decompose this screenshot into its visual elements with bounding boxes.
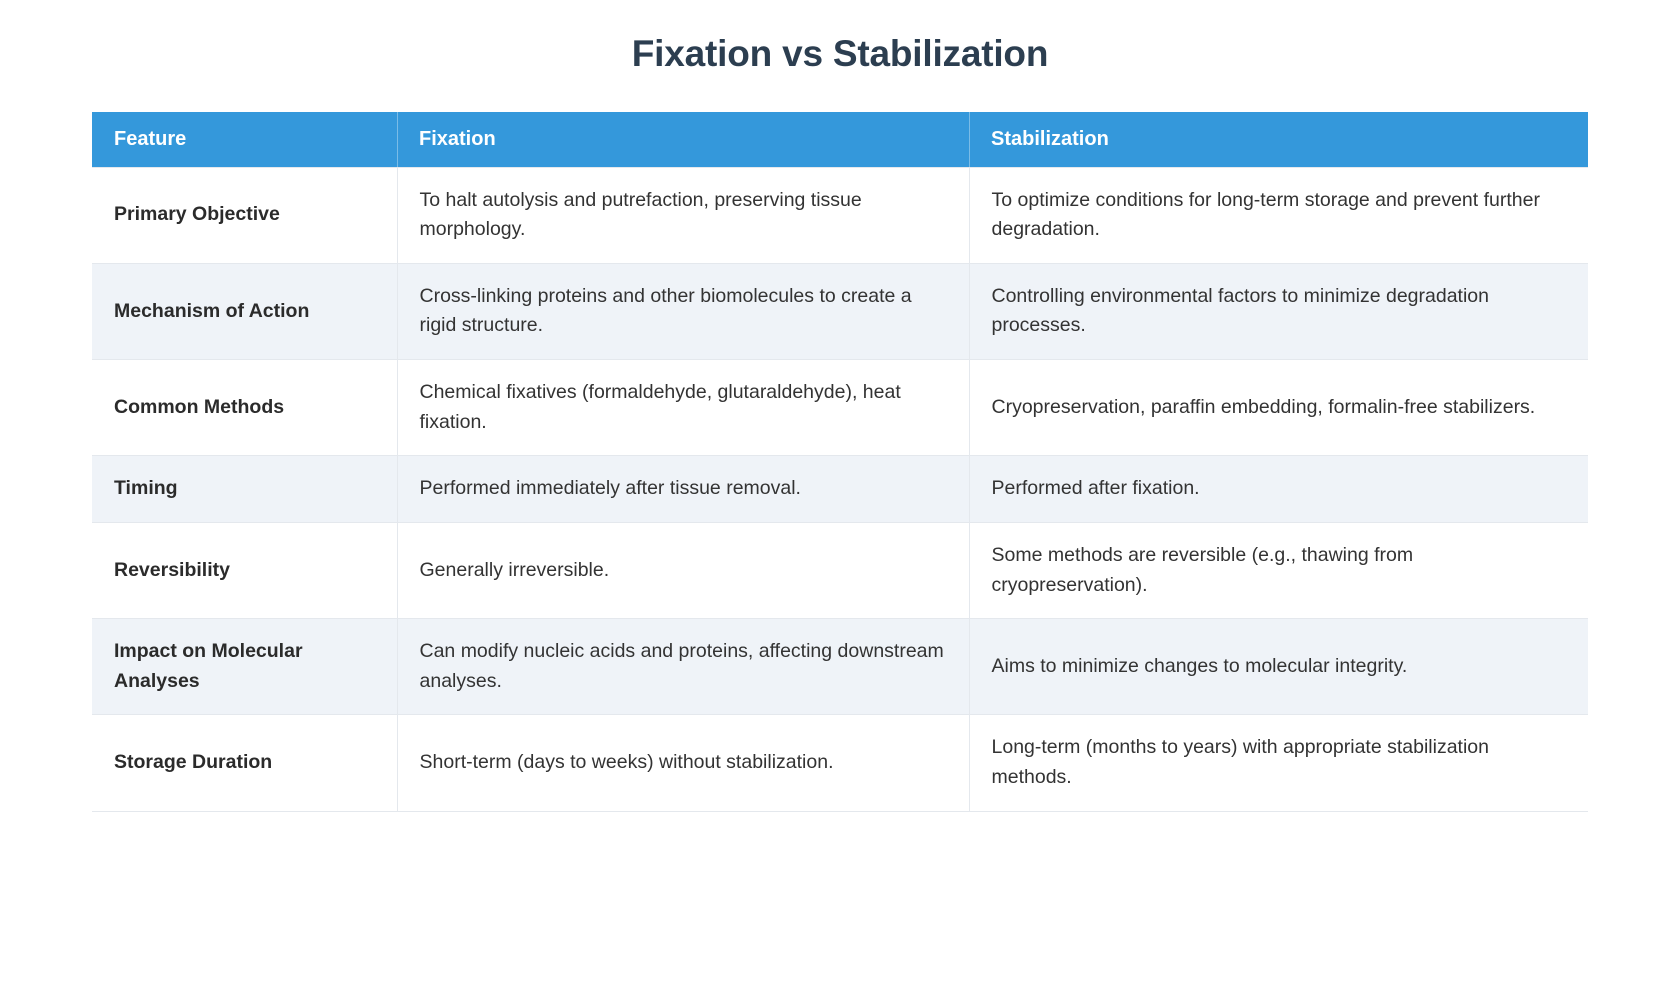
cell-fixation: Short-term (days to weeks) without stabi… — [397, 715, 969, 811]
cell-feature: Timing — [92, 456, 397, 523]
cell-stabilization: Controlling environmental factors to min… — [969, 263, 1588, 359]
table-header: Feature Fixation Stabilization — [92, 112, 1588, 168]
cell-fixation: To halt autolysis and putrefaction, pres… — [397, 167, 969, 263]
table-row: Reversibility Generally irreversible. So… — [92, 522, 1588, 618]
table-row: Impact on Molecular Analyses Can modify … — [92, 619, 1588, 715]
cell-fixation: Performed immediately after tissue remov… — [397, 456, 969, 523]
cell-fixation: Can modify nucleic acids and proteins, a… — [397, 619, 969, 715]
cell-fixation: Cross-linking proteins and other biomole… — [397, 263, 969, 359]
table-row: Storage Duration Short-term (days to wee… — [92, 715, 1588, 811]
cell-feature: Storage Duration — [92, 715, 397, 811]
cell-stabilization: Some methods are reversible (e.g., thawi… — [969, 522, 1588, 618]
cell-feature: Reversibility — [92, 522, 397, 618]
cell-feature: Primary Objective — [92, 167, 397, 263]
cell-stabilization: Aims to minimize changes to molecular in… — [969, 619, 1588, 715]
page-title: Fixation vs Stabilization — [0, 0, 1680, 76]
cell-feature: Common Methods — [92, 360, 397, 456]
page-root: Fixation vs Stabilization Feature Fixati… — [0, 0, 1680, 1002]
cell-stabilization: Performed after fixation. — [969, 456, 1588, 523]
column-header-stabilization[interactable]: Stabilization — [969, 112, 1588, 168]
table-header-row: Feature Fixation Stabilization — [92, 112, 1588, 168]
comparison-table: Feature Fixation Stabilization Primary O… — [92, 112, 1588, 812]
table-body: Primary Objective To halt autolysis and … — [92, 167, 1588, 811]
cell-stabilization: Long-term (months to years) with appropr… — [969, 715, 1588, 811]
table-row: Common Methods Chemical fixatives (forma… — [92, 360, 1588, 456]
cell-fixation: Generally irreversible. — [397, 522, 969, 618]
column-header-fixation[interactable]: Fixation — [397, 112, 969, 168]
table-row: Mechanism of Action Cross-linking protei… — [92, 263, 1588, 359]
cell-stabilization: Cryopreservation, paraffin embedding, fo… — [969, 360, 1588, 456]
table-row: Timing Performed immediately after tissu… — [92, 456, 1588, 523]
cell-feature: Impact on Molecular Analyses — [92, 619, 397, 715]
column-header-feature[interactable]: Feature — [92, 112, 397, 168]
cell-feature: Mechanism of Action — [92, 263, 397, 359]
table-row: Primary Objective To halt autolysis and … — [92, 167, 1588, 263]
cell-fixation: Chemical fixatives (formaldehyde, glutar… — [397, 360, 969, 456]
cell-stabilization: To optimize conditions for long-term sto… — [969, 167, 1588, 263]
comparison-table-container: Feature Fixation Stabilization Primary O… — [92, 112, 1588, 812]
